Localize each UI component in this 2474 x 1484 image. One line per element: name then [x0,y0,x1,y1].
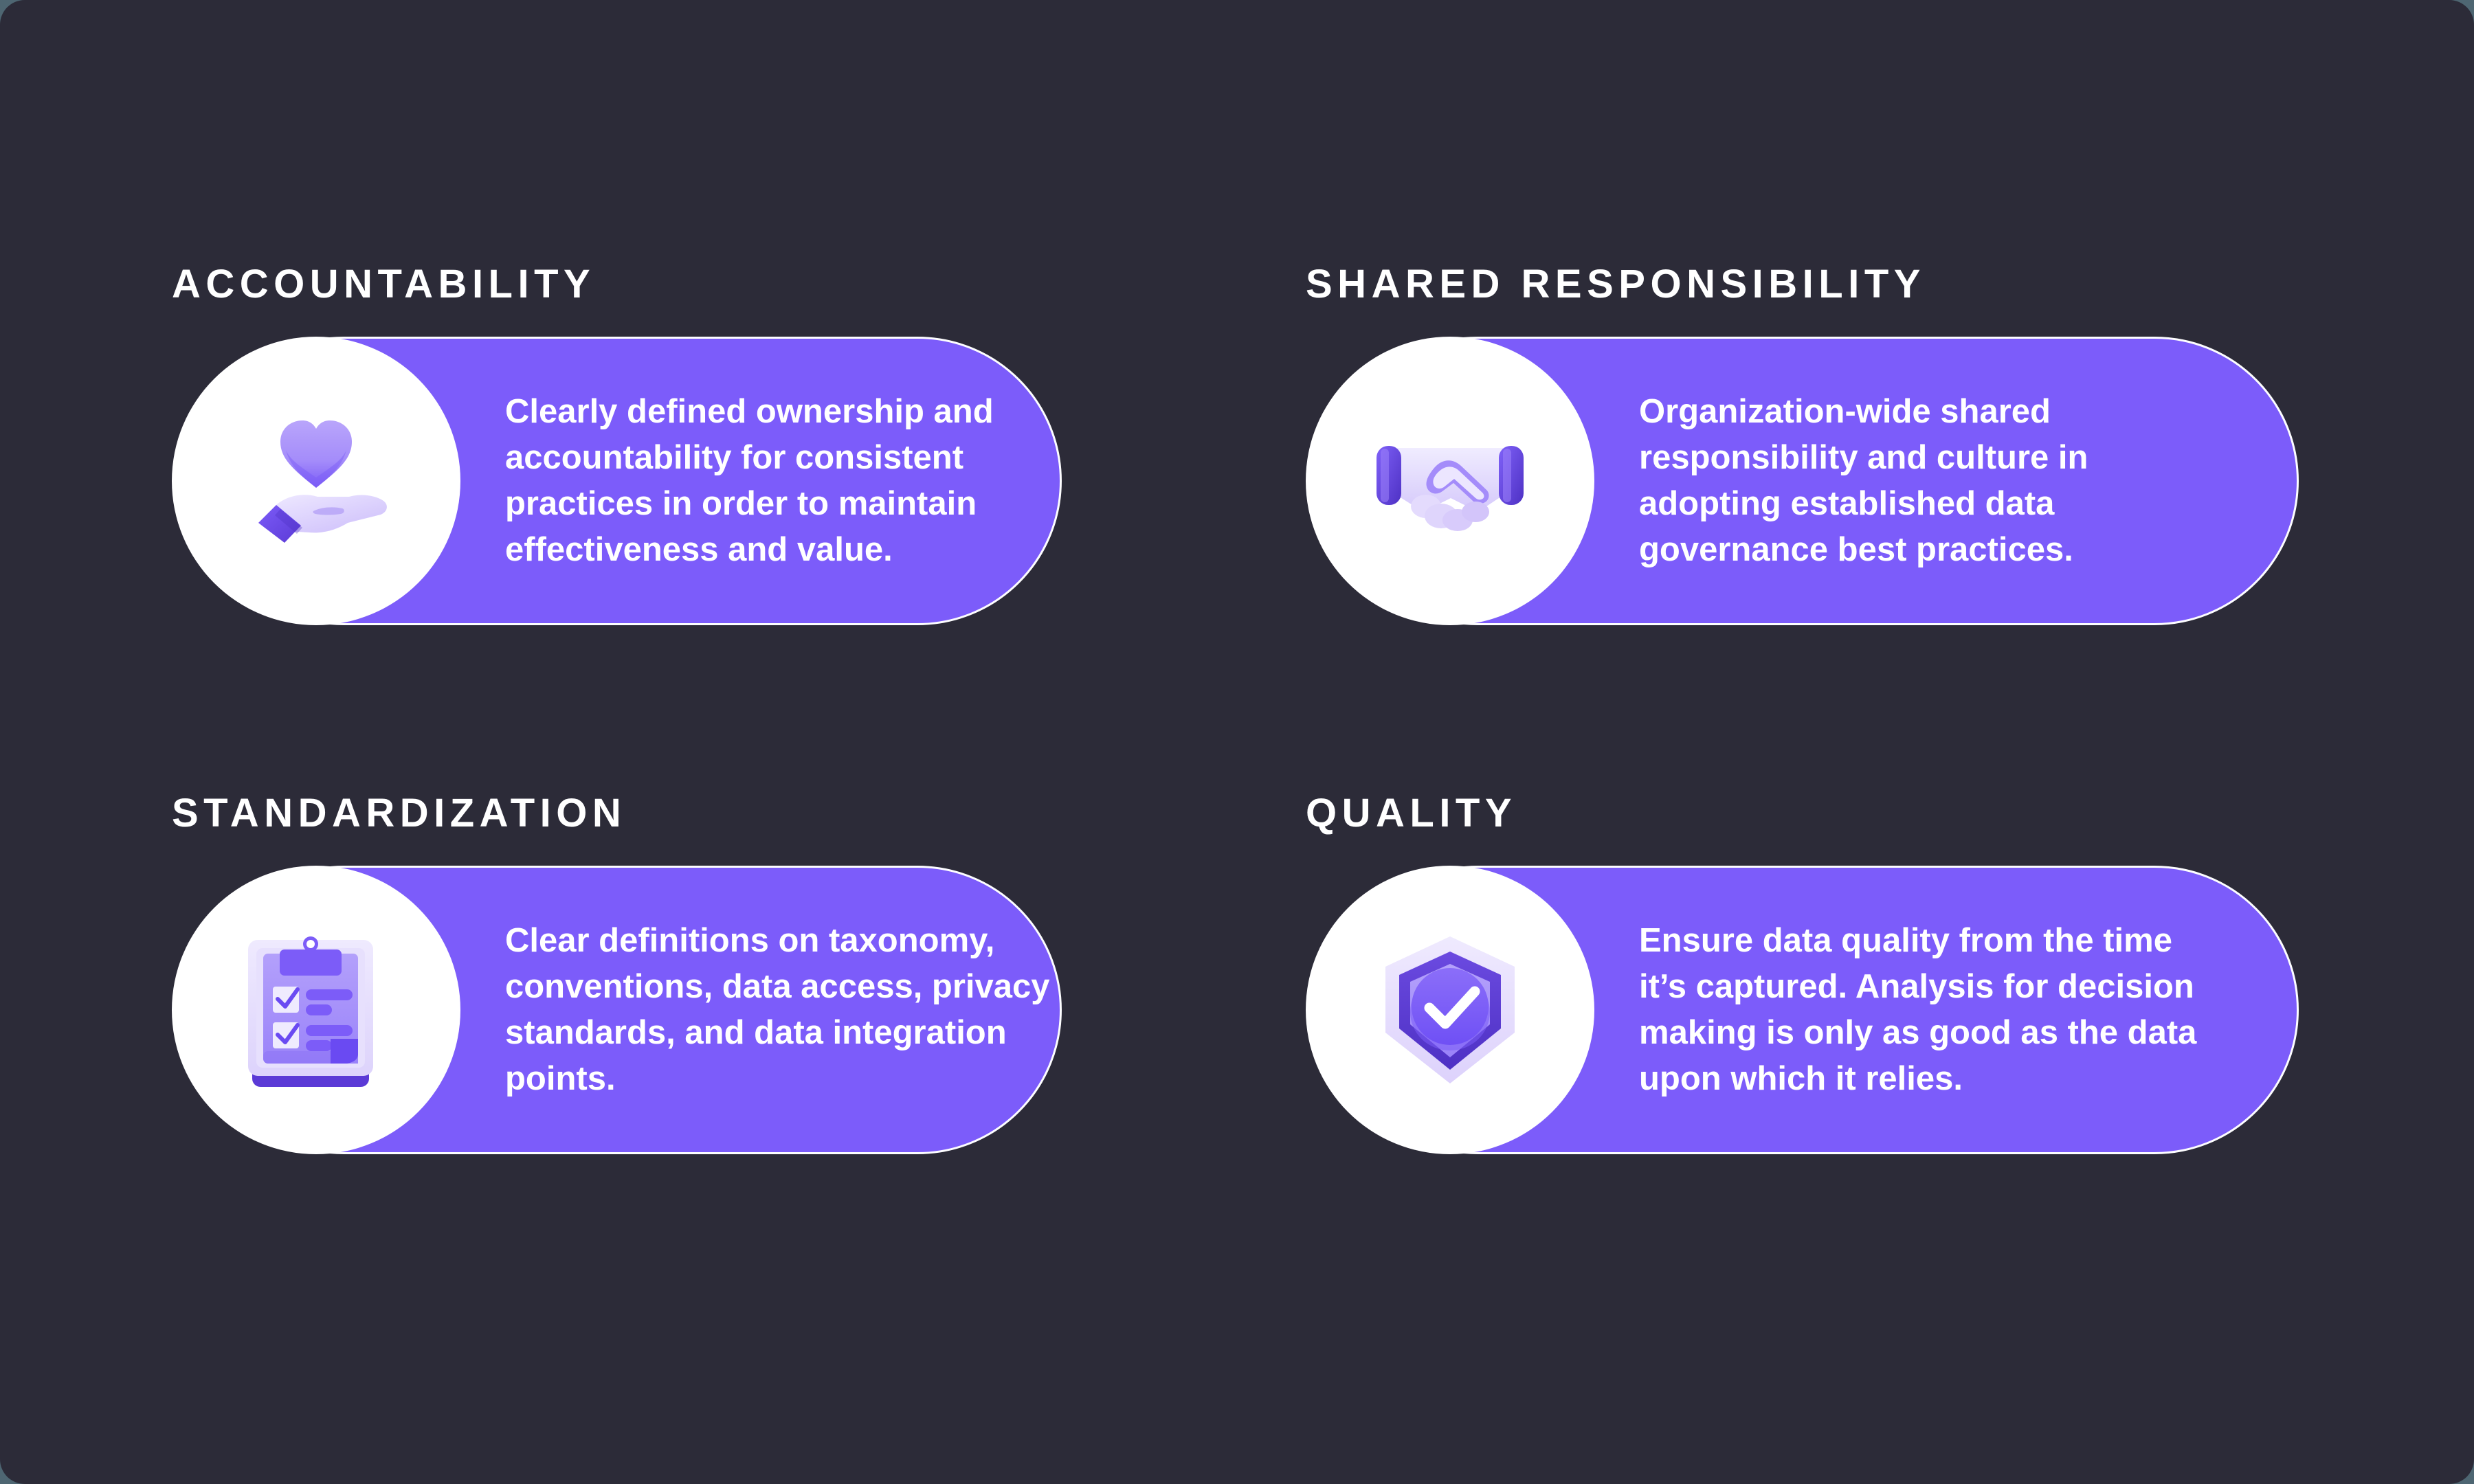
card-pill-shared-responsibility: Organization-wide shared responsibility … [1306,337,1926,625]
card-pill-accountability: Clearly defined ownership and accountabi… [172,337,595,625]
card-heading-accountability: ACCOUNTABILITY [172,265,595,304]
card-body-standardization: Clear definitions on taxonomy, conventio… [505,918,1089,1103]
shield-check-icon [1368,924,1533,1096]
card-text-shared-responsibility: Organization-wide shared responsibility … [1639,337,2189,625]
card-text-accountability: Clearly defined ownership and accountabi… [505,337,1055,625]
card-text-standardization: Clear definitions on taxonomy, conventio… [505,866,1089,1154]
principles-grid: ACCOUNTABILITY [0,0,2474,1484]
icon-badge-accountability [172,337,460,625]
card-pill-quality: Ensure data quality from the time it’s c… [1306,866,1517,1154]
icon-badge-shared-responsibility [1306,337,1594,625]
card-heading-quality: QUALITY [1306,794,1517,833]
card-body-quality: Ensure data quality from the time it’s c… [1639,918,2209,1103]
icon-badge-quality [1306,866,1594,1154]
card-body-accountability: Clearly defined ownership and accountabi… [505,389,1055,574]
card-heading-shared-responsibility: SHARED RESPONSIBILITY [1306,265,1926,304]
card-text-quality: Ensure data quality from the time it’s c… [1639,866,2209,1154]
clipboard-checklist-icon [237,921,395,1099]
card-heading-standardization: STANDARDIZATION [172,794,626,833]
card-standardization: STANDARDIZATION [172,794,626,1154]
card-pill-standardization: Clear definitions on taxonomy, conventio… [172,866,626,1154]
infographic-panel: ACCOUNTABILITY [0,0,2474,1484]
card-quality: QUALITY [1306,794,1517,1154]
handshake-icon [1357,416,1543,546]
card-body-shared-responsibility: Organization-wide shared responsibility … [1639,389,2189,574]
card-shared-responsibility: SHARED RESPONSIBILITY [1306,265,1926,625]
card-accountability: ACCOUNTABILITY [172,265,595,625]
icon-badge-standardization [172,866,460,1154]
heart-in-hand-icon [227,395,405,567]
